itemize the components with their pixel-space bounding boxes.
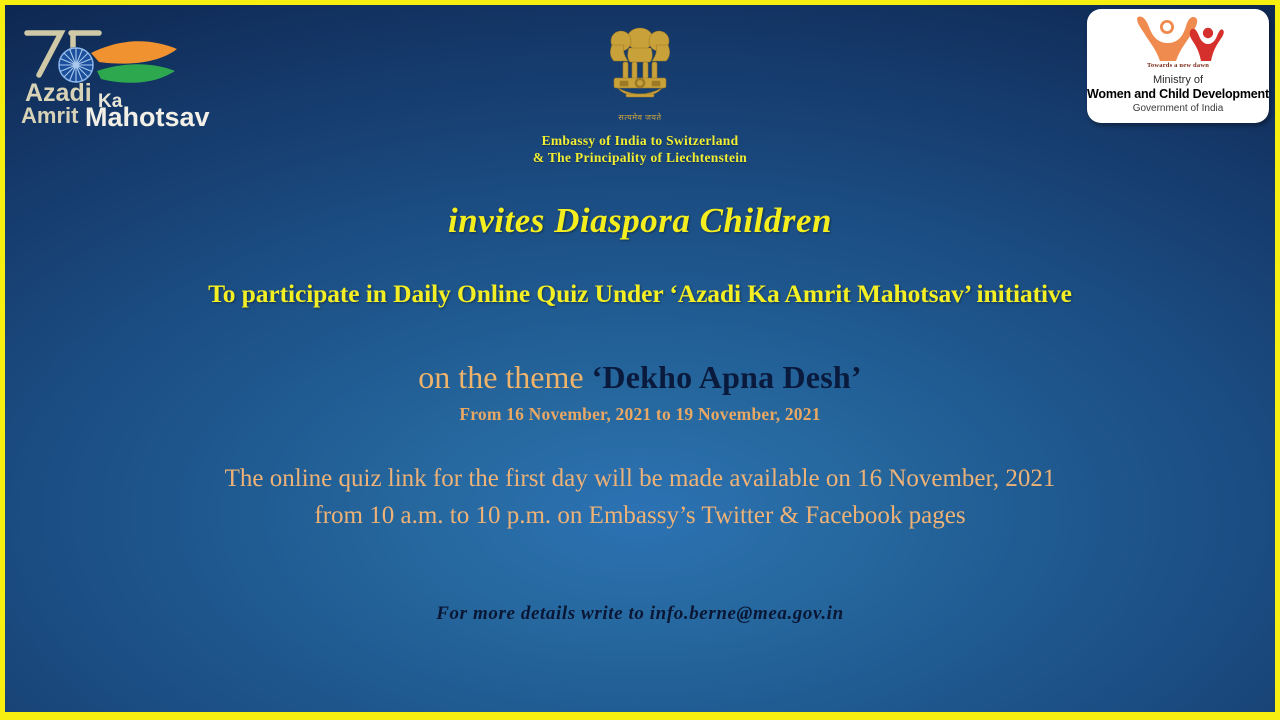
participate-subheadline: To participate in Daily Online Quiz Unde… — [5, 279, 1275, 309]
wcd-department-line: Women and Child Development — [1087, 87, 1269, 101]
emblem-motto: सत्यमेव जयते — [5, 112, 1275, 123]
embassy-line-1: Embassy of India to Switzerland — [5, 132, 1275, 149]
poster-root: Azadi Ka Amrit Mahotsav — [0, 0, 1280, 720]
event-dates: From 16 November, 2021 to 19 November, 2… — [5, 404, 1275, 425]
wcd-figures-icon — [1087, 9, 1269, 61]
embassy-line-2: & The Principality of Liechtenstein — [5, 149, 1275, 166]
wcd-ministry-line: Ministry of — [1087, 74, 1269, 86]
invites-headline: invites Diaspora Children — [5, 201, 1275, 241]
ministry-of-women-and-child-development-logo: Towards a new dawn Ministry of Women and… — [1087, 9, 1269, 123]
wcd-government-line: Government of India — [1087, 103, 1269, 114]
national-emblem-block: सत्यमेव जयते — [5, 23, 1275, 123]
poster-canvas: Azadi Ka Amrit Mahotsav — [5, 5, 1275, 712]
ashoka-lion-capital-icon — [602, 23, 678, 109]
wcd-tagline: Towards a new dawn — [1087, 62, 1269, 69]
theme-prefix: on the theme — [418, 359, 591, 395]
quiz-detail-text: The online quiz link for the first day w… — [5, 460, 1275, 534]
quiz-detail-line-2: from 10 a.m. to 10 p.m. on Embassy’s Twi… — [5, 497, 1275, 534]
contact-email-line: For more details write to info.berne@mea… — [5, 603, 1275, 625]
theme-line: on the theme ‘Dekho Apna Desh’ — [5, 357, 1275, 397]
theme-name: ‘Dekho Apna Desh’ — [592, 359, 862, 395]
embassy-heading: Embassy of India to Switzerland & The Pr… — [5, 132, 1275, 166]
quiz-detail-line-1: The online quiz link for the first day w… — [5, 460, 1275, 497]
